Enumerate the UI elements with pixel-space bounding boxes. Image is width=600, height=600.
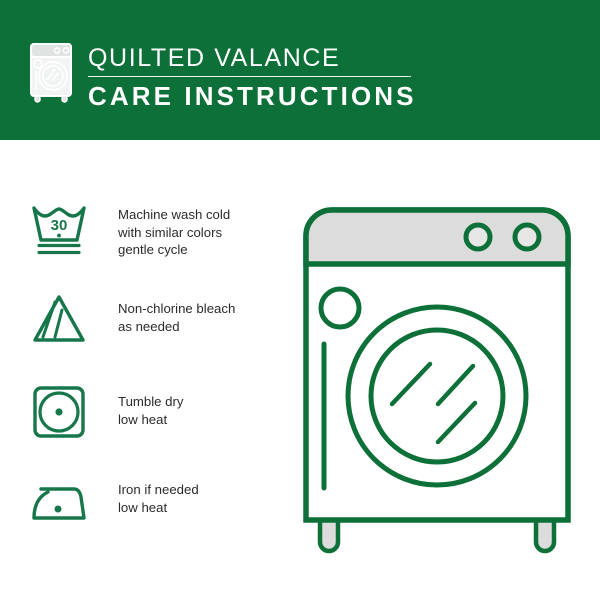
care-instructions-infographic: QUILTED VALANCE CARE INSTRUCTIONS 30	[0, 0, 600, 600]
page-title: CARE INSTRUCTIONS	[88, 82, 428, 111]
care-label-bleach: Non-chlorine bleach as needed	[90, 290, 278, 335]
care-label-machine-wash: Machine wash cold with similar colors ge…	[90, 202, 278, 259]
non-chlorine-bleach-icon	[28, 290, 90, 348]
product-name: QUILTED VALANCE	[88, 44, 428, 72]
header-banner: QUILTED VALANCE CARE INSTRUCTIONS	[0, 0, 600, 140]
care-row-bleach: Non-chlorine bleach as needed	[28, 290, 278, 348]
iron-low-heat-icon	[28, 475, 90, 533]
washing-machine-logo-icon	[24, 41, 76, 103]
header-title-group: QUILTED VALANCE CARE INSTRUCTIONS	[88, 44, 428, 111]
machine-wash-30-gentle-icon: 30	[28, 202, 90, 260]
knob-right	[515, 225, 539, 249]
front-load-washing-machine-illustration	[292, 196, 582, 558]
detergent-indicator-circle	[321, 289, 359, 327]
knob-left	[466, 225, 490, 249]
tumble-dry-low-heat-icon	[28, 383, 90, 441]
care-row-iron: Iron if needed low heat	[28, 475, 278, 533]
wash-temperature-value: 30	[51, 217, 68, 234]
care-row-machine-wash: 30 Machine wash cold with similar colors…	[28, 202, 278, 260]
title-divider	[88, 76, 411, 77]
care-instruction-list: 30 Machine wash cold with similar colors…	[0, 140, 288, 600]
care-label-iron: Iron if needed low heat	[90, 475, 278, 516]
care-label-tumble-dry: Tumble dry low heat	[90, 383, 278, 428]
care-row-tumble-dry: Tumble dry low heat	[28, 383, 278, 441]
